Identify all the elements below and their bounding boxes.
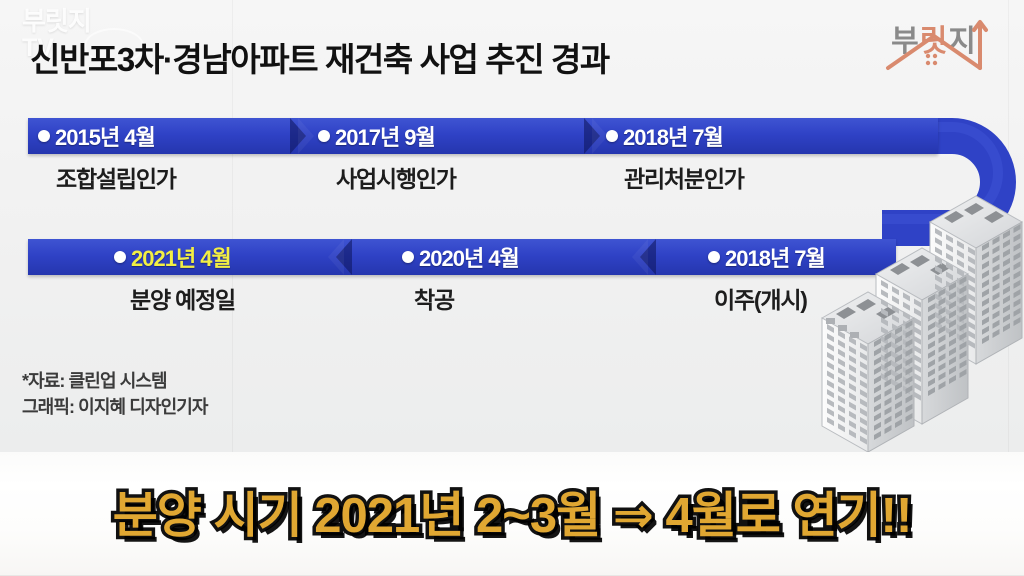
node-dot-icon (114, 251, 126, 263)
timeline-node-1-2[interactable]: 2017년 9월 (318, 118, 435, 154)
timeline-caption-2-3: 이주(개시) (714, 281, 807, 315)
timeline-caption-1-1: 조합설립인가 (56, 160, 176, 194)
bottom-caption-text: 분양 시기 2021년 2~3월 ⇒ 4월로 연기!! (0, 476, 1024, 547)
node-date: 2017년 9월 (335, 120, 435, 152)
chevron-right-icon (290, 118, 318, 154)
note-graphic: 그래픽: 이지혜 디자인기자 (22, 394, 208, 420)
node-date: 2015년 4월 (55, 120, 155, 152)
node-dot-icon (318, 130, 330, 142)
node-dot-icon (708, 251, 720, 263)
node-date: 2020년 4월 (419, 241, 519, 273)
node-dot-icon (402, 251, 414, 263)
node-dot-icon (606, 130, 618, 142)
timeline-node-1-3[interactable]: 2018년 7월 (606, 118, 723, 154)
node-date: 2018년 7월 (725, 241, 825, 273)
node-date: 2018년 7월 (623, 120, 723, 152)
source-notes: *자료: 클린업 시스템 그래픽: 이지혜 디자인기자 (22, 368, 208, 420)
timeline-caption-1-3: 관리처분인가 (624, 160, 744, 194)
note-source: *자료: 클린업 시스템 (22, 368, 208, 394)
node-dot-icon (38, 130, 50, 142)
apartment-buildings-icon (818, 188, 1024, 454)
node-date: 2021년 4월 (131, 241, 231, 273)
bottom-caption-band: 분양 시기 2021년 2~3월 ⇒ 4월로 연기!! (0, 452, 1024, 576)
timeline-bar-1 (28, 118, 938, 154)
infographic-stage: 부릿지 TV 부릿지 신반포3차·경남아파트 재건축 사업 추진 경과 (0, 0, 1024, 576)
timeline-caption-2-2: 착공 (414, 281, 454, 315)
chevron-left-icon (628, 239, 656, 275)
timeline-caption-2-1: 분양 예정일 (130, 281, 235, 315)
chevron-left-icon (324, 239, 352, 275)
timeline-caption-1-2: 사업시행인가 (336, 160, 456, 194)
timeline-node-1-1[interactable]: 2015년 4월 (38, 118, 155, 154)
timeline-node-2-3[interactable]: 2018년 7월 (708, 239, 825, 275)
timeline-node-2-1[interactable]: 2021년 4월 (114, 239, 231, 275)
timeline-row-2: 2021년 4월 2020년 4월 2018년 7월 (28, 239, 896, 275)
timeline-row-1: 2015년 4월 2017년 9월 2018년 7월 (28, 118, 938, 154)
timeline-node-2-2[interactable]: 2020년 4월 (402, 239, 519, 275)
